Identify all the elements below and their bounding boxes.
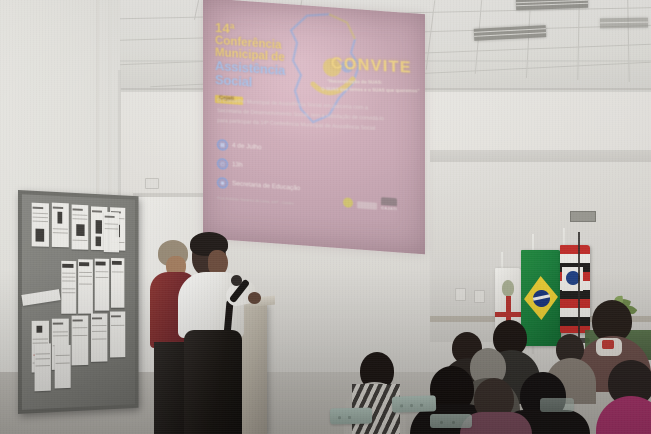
audience-lanyard (602, 340, 614, 349)
wall-outlet (474, 290, 485, 303)
chair-back[interactable] (430, 414, 472, 428)
wall-sign (145, 178, 159, 189)
microphone-head (231, 275, 242, 286)
wall-plaque (570, 211, 596, 222)
door-header (133, 193, 207, 197)
projection-screen: 14ª Conferência Municipal de Assistência… (203, 0, 425, 254)
hand (248, 292, 261, 304)
microphone-stand (578, 232, 580, 340)
chair-back[interactable] (540, 398, 574, 412)
brazil-flag (521, 250, 561, 346)
sao-paulo-flag (560, 245, 590, 333)
ceiling-light-fixture (600, 18, 648, 29)
conference-hall-photo: 14ª Conferência Municipal de Assistência… (0, 0, 651, 434)
chair-back[interactable] (392, 395, 437, 413)
wall-panel-seam (108, 0, 111, 200)
chair-back[interactable] (330, 408, 372, 425)
wall-outlet (455, 288, 466, 301)
trousers (184, 330, 242, 434)
